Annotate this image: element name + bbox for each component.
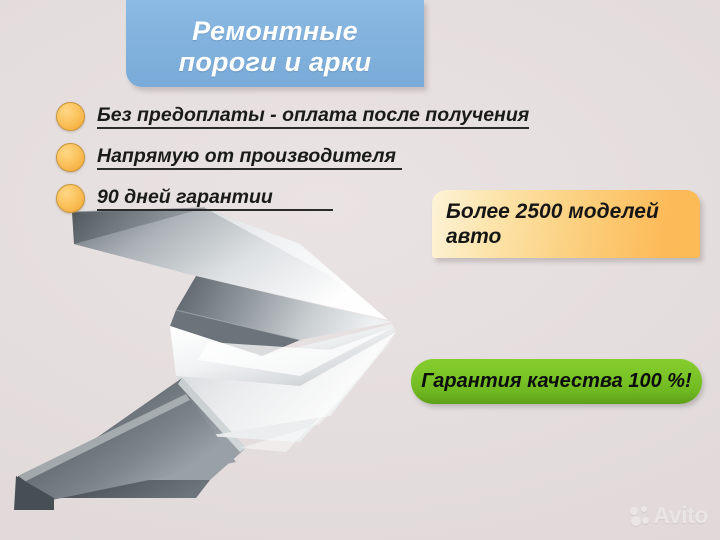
quality-guarantee-badge: Гарантия качества 100 %!: [411, 359, 702, 404]
benefit-item-manufacturer: Напрямую от производителя: [56, 142, 556, 172]
advertisement-image: Ремонтные пороги и арки Без предоплаты -…: [0, 0, 720, 540]
models-count-badge: Более 2500 моделей авто: [432, 190, 700, 258]
benefit-label: Без предоплаты - оплата после получения: [97, 104, 529, 129]
benefit-label: Напрямую от производителя: [97, 145, 402, 170]
models-badge-line-2: авто: [446, 224, 686, 249]
quality-badge-label: Гарантия качества 100 %!: [421, 370, 691, 393]
bullet-circle-icon: [56, 102, 85, 131]
avito-logo-icon: [630, 506, 650, 526]
bullet-circle-icon: [56, 143, 85, 172]
benefit-item-prepayment: Без предоплаты - оплата после получения: [56, 101, 556, 131]
avito-watermark: Avito: [630, 502, 708, 529]
banner-title-line-2: пороги и арки: [179, 47, 372, 78]
avito-watermark-label: Avito: [653, 502, 708, 529]
header-banner: Ремонтные пороги и арки: [126, 0, 424, 87]
benefit-label: 90 дней гарантии: [97, 186, 333, 211]
product-photo-metal-sill: [0, 180, 440, 540]
models-badge-line-1: Более 2500 моделей: [446, 199, 686, 224]
banner-title-line-1: Ремонтные: [192, 16, 358, 47]
bullet-circle-icon: [56, 184, 85, 213]
